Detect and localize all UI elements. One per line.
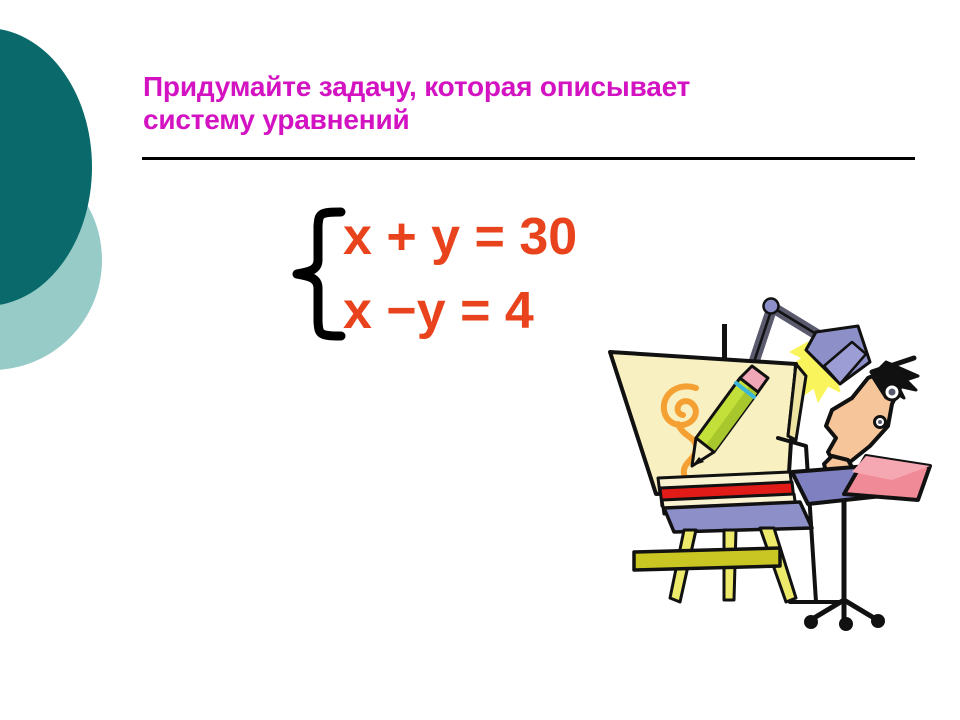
equation-row: x + y = 30 bbox=[343, 200, 577, 274]
dark-teal-circle bbox=[0, 28, 92, 306]
light-teal-circle bbox=[0, 150, 102, 370]
slide-title: Придумайте задачу, которая описывает сис… bbox=[143, 70, 903, 136]
artist-at-easel-illustration bbox=[600, 280, 960, 662]
equation-list: x + y = 30 x −y = 4 bbox=[343, 200, 577, 348]
slide-title-line-1: Придумайте задачу, которая описывает bbox=[143, 70, 903, 103]
slide-canvas: Придумайте задачу, которая описывает сис… bbox=[0, 0, 960, 720]
curly-brace-icon bbox=[285, 204, 347, 344]
equation-system: x + y = 30 x −y = 4 bbox=[285, 200, 577, 348]
slide-title-line-2: систему уравнений bbox=[143, 103, 903, 136]
equation-row: x −y = 4 bbox=[343, 274, 577, 348]
title-divider-rule bbox=[142, 157, 915, 160]
